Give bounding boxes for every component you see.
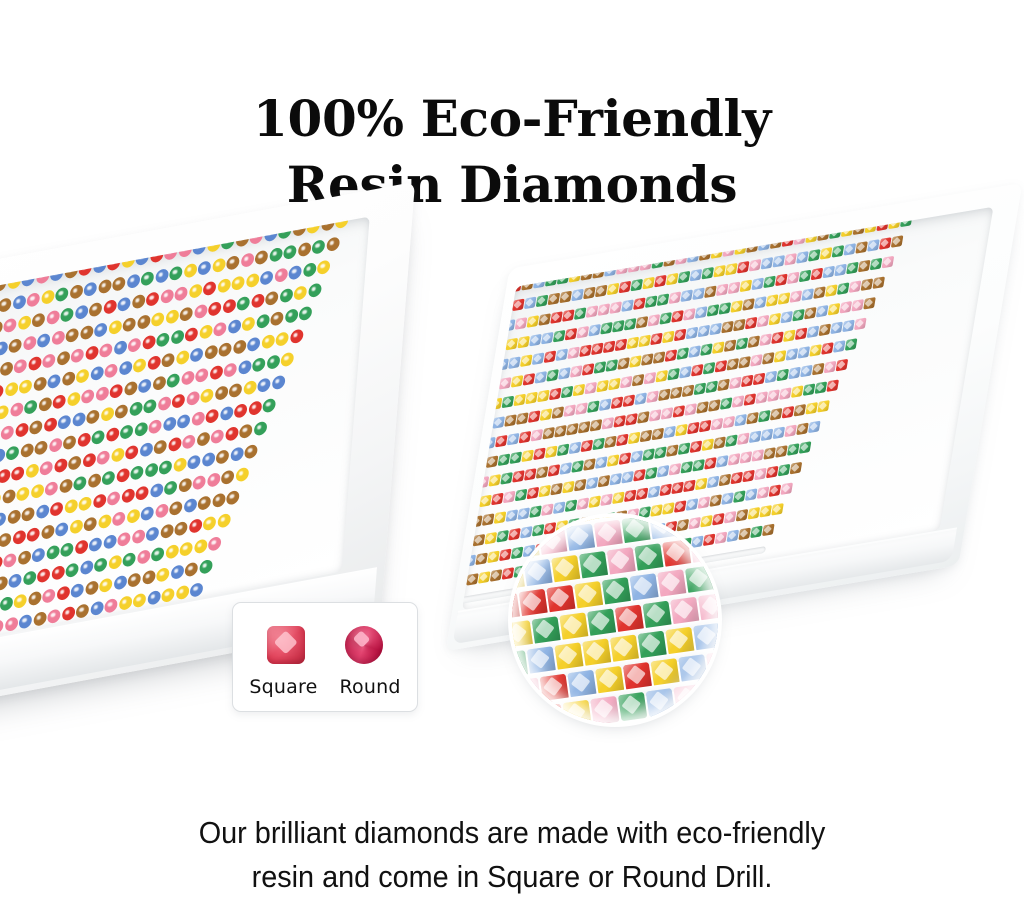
bead <box>683 308 696 321</box>
bead <box>127 573 141 589</box>
bead <box>756 315 769 328</box>
bead <box>0 576 8 592</box>
bead <box>475 381 488 394</box>
bead <box>217 278 231 294</box>
bead <box>720 397 733 410</box>
bead <box>758 410 771 423</box>
bead <box>601 417 614 430</box>
bead <box>11 466 25 482</box>
bead <box>596 379 609 392</box>
bead <box>787 271 800 284</box>
bead <box>798 441 811 454</box>
bead <box>547 464 560 477</box>
bead <box>226 490 240 506</box>
bead <box>143 399 157 415</box>
bead <box>179 307 193 323</box>
bead <box>190 348 204 364</box>
bead <box>641 353 654 366</box>
bead <box>98 514 112 530</box>
bead <box>206 473 220 489</box>
bead <box>9 402 23 418</box>
bead <box>525 391 538 404</box>
bead <box>574 479 587 492</box>
bead <box>805 402 818 415</box>
bead <box>483 265 496 278</box>
bead <box>647 485 660 498</box>
bead <box>785 348 798 361</box>
bead <box>79 325 93 341</box>
bead <box>193 304 207 320</box>
bead <box>499 377 512 390</box>
bead <box>600 493 613 506</box>
bead <box>858 259 871 272</box>
bead <box>495 263 508 276</box>
bead <box>787 443 800 456</box>
bead <box>197 261 211 277</box>
bead <box>810 267 823 280</box>
bead <box>509 451 522 464</box>
bead <box>90 601 104 617</box>
bead <box>613 415 626 428</box>
bead <box>138 379 152 395</box>
bead <box>466 401 479 414</box>
bead <box>546 369 559 382</box>
bead <box>96 450 110 466</box>
bead <box>681 384 694 397</box>
bead <box>88 537 102 553</box>
bead <box>169 501 183 517</box>
bead <box>3 553 17 569</box>
bead <box>122 552 136 568</box>
bead <box>462 440 472 453</box>
bead <box>721 320 734 333</box>
bead <box>42 589 56 605</box>
bead <box>748 430 761 443</box>
bead <box>844 338 857 351</box>
bead <box>289 329 303 345</box>
bead <box>238 360 252 376</box>
bead <box>705 380 718 393</box>
bead <box>94 323 108 339</box>
bead <box>131 529 145 545</box>
bead <box>662 502 675 515</box>
bead <box>508 356 521 369</box>
bead <box>468 420 481 433</box>
bead <box>733 490 746 503</box>
bead <box>802 383 815 396</box>
bead <box>462 498 468 511</box>
bead <box>701 438 714 451</box>
bead <box>612 320 625 333</box>
bead <box>621 299 634 312</box>
bead <box>733 318 746 331</box>
bead <box>584 381 597 394</box>
bead <box>752 372 765 385</box>
bead <box>593 361 606 374</box>
bead <box>575 402 588 415</box>
bead <box>727 281 740 294</box>
bead <box>542 427 555 440</box>
bead <box>659 312 672 325</box>
bead <box>479 323 492 336</box>
bead <box>633 297 646 310</box>
bead <box>793 404 806 417</box>
bead <box>814 381 827 394</box>
bead <box>716 283 729 296</box>
bead <box>675 423 688 436</box>
bead <box>26 292 40 308</box>
bead <box>8 338 22 354</box>
bead <box>549 387 562 400</box>
bead <box>581 363 594 376</box>
bead <box>817 400 830 413</box>
bead <box>111 448 125 464</box>
bead <box>161 353 175 369</box>
bead <box>22 336 36 352</box>
bead <box>514 488 527 501</box>
bead <box>126 274 140 290</box>
bead <box>472 534 485 547</box>
bead <box>245 273 259 289</box>
magnifier-content <box>512 517 718 723</box>
bead <box>271 375 285 391</box>
bead <box>70 348 84 364</box>
bead <box>161 588 175 604</box>
bead <box>28 356 42 372</box>
bead <box>713 265 726 278</box>
bead <box>754 467 767 480</box>
bead <box>37 568 51 584</box>
bead <box>718 302 731 315</box>
bead <box>717 378 730 391</box>
bead <box>43 417 57 433</box>
bead <box>170 330 184 346</box>
bead <box>762 352 775 365</box>
bead <box>251 294 265 310</box>
bead <box>44 481 58 497</box>
bead <box>789 461 802 474</box>
bead <box>231 276 245 292</box>
bead <box>50 502 64 518</box>
round-gem-icon <box>345 626 383 664</box>
bead <box>126 509 140 525</box>
bead <box>848 280 861 293</box>
bead <box>867 239 880 252</box>
bead <box>743 393 756 406</box>
bead <box>585 305 598 318</box>
bead <box>626 336 639 349</box>
bead <box>8 573 22 589</box>
bead <box>812 362 825 375</box>
bead <box>869 257 882 270</box>
bead <box>65 328 79 344</box>
bead <box>56 586 70 602</box>
bead <box>673 328 686 341</box>
bead <box>40 525 54 541</box>
bead <box>42 354 56 370</box>
bead <box>627 431 640 444</box>
bead <box>64 499 78 515</box>
bead <box>748 259 761 272</box>
bead <box>639 429 652 442</box>
bead <box>78 496 92 512</box>
bead <box>567 346 580 359</box>
bead <box>13 594 27 610</box>
bead <box>714 360 727 373</box>
bead <box>751 277 764 290</box>
bead <box>671 481 684 494</box>
bead <box>123 381 137 397</box>
bead <box>521 449 534 462</box>
bead <box>625 413 638 426</box>
bead <box>127 338 141 354</box>
bead <box>31 548 45 564</box>
bead <box>177 414 191 430</box>
bead <box>634 392 647 405</box>
bead <box>134 422 148 438</box>
bead <box>600 322 613 335</box>
bead <box>851 299 864 312</box>
bead <box>2 489 16 505</box>
bead <box>190 583 204 599</box>
bead <box>223 363 237 379</box>
bead <box>735 509 748 522</box>
bead <box>241 317 255 333</box>
bead <box>630 450 643 463</box>
bead <box>837 282 850 295</box>
bead <box>683 479 696 492</box>
bead <box>685 498 698 511</box>
bead <box>697 496 710 509</box>
magnified-bead <box>590 696 619 723</box>
bead <box>175 350 189 366</box>
bead <box>108 320 122 336</box>
bead <box>99 578 113 594</box>
bead <box>677 271 690 284</box>
bead <box>568 441 581 454</box>
bead <box>21 507 35 523</box>
bead <box>591 342 604 355</box>
bead <box>0 469 10 485</box>
bead <box>178 478 192 494</box>
bead <box>195 368 209 384</box>
bead <box>616 433 629 446</box>
bead <box>35 504 49 520</box>
bead <box>696 401 709 414</box>
bead <box>576 497 589 510</box>
bead <box>713 436 726 449</box>
bead <box>609 473 622 486</box>
bead <box>274 268 288 284</box>
bead <box>708 399 721 412</box>
bead <box>550 482 563 495</box>
bead <box>462 422 469 435</box>
bead <box>497 453 510 466</box>
bead <box>772 255 785 268</box>
bead <box>697 324 710 337</box>
bead <box>481 341 494 354</box>
bead <box>649 409 662 422</box>
bead <box>808 420 821 433</box>
bead <box>0 341 8 357</box>
bead <box>662 330 675 343</box>
bead <box>763 275 776 288</box>
bead <box>658 388 671 401</box>
bead <box>742 469 755 482</box>
bead <box>113 340 127 356</box>
bead <box>804 307 817 320</box>
bead <box>288 265 302 281</box>
bead <box>105 427 119 443</box>
bead <box>499 548 512 561</box>
bead <box>760 428 773 441</box>
bead <box>61 371 75 387</box>
bead <box>759 505 772 518</box>
bead <box>656 465 669 478</box>
bead <box>0 405 9 421</box>
bead <box>730 471 743 484</box>
bead <box>754 296 767 309</box>
bead <box>689 269 702 282</box>
bead <box>17 550 31 566</box>
bead <box>4 617 18 633</box>
bead <box>94 558 108 574</box>
bead <box>214 386 228 402</box>
bead <box>326 237 340 253</box>
bead <box>479 494 492 507</box>
bead <box>890 235 903 248</box>
bead <box>212 258 226 274</box>
bead <box>121 488 135 504</box>
bead <box>51 331 65 347</box>
bead <box>462 288 474 301</box>
bead <box>20 443 34 459</box>
bead <box>727 453 740 466</box>
bead <box>602 340 615 353</box>
bead <box>39 461 53 477</box>
bead <box>122 317 136 333</box>
bead <box>484 532 497 545</box>
bead <box>225 427 239 443</box>
bead <box>538 484 551 497</box>
bead <box>38 397 52 413</box>
bead <box>564 328 577 341</box>
bead <box>738 356 751 369</box>
bead <box>756 486 769 499</box>
bead <box>7 510 21 526</box>
bead <box>792 309 805 322</box>
bead <box>692 459 705 472</box>
bead <box>37 333 51 349</box>
bead <box>232 340 246 356</box>
bead <box>570 365 583 378</box>
bead <box>504 414 517 427</box>
bead <box>187 455 201 471</box>
bead <box>704 285 717 298</box>
bead <box>103 535 117 551</box>
bead <box>755 391 768 404</box>
bead <box>77 433 91 449</box>
bead <box>830 321 843 334</box>
bead <box>467 325 480 338</box>
page-title: 100% Eco-Friendly Resin Diamonds <box>0 86 1024 218</box>
bead <box>158 460 172 476</box>
bead <box>175 585 189 601</box>
bead <box>0 448 5 464</box>
bead <box>183 498 197 514</box>
bead <box>583 458 596 471</box>
bead <box>718 473 731 486</box>
bead <box>767 389 780 402</box>
bead <box>650 504 663 517</box>
bead <box>256 314 270 330</box>
bead <box>809 344 822 357</box>
bead <box>735 337 748 350</box>
bead <box>664 349 677 362</box>
bead <box>842 319 855 332</box>
bead <box>33 612 47 628</box>
bead <box>638 334 651 347</box>
bead <box>311 240 325 256</box>
bead <box>620 376 633 389</box>
bead <box>655 370 668 383</box>
bead <box>462 345 470 358</box>
bead <box>117 297 131 313</box>
bead <box>726 529 739 542</box>
bead <box>18 614 32 630</box>
bead <box>823 360 836 373</box>
bead <box>174 521 188 537</box>
bead <box>716 455 729 468</box>
bead <box>677 442 690 455</box>
bead <box>534 371 547 384</box>
bead <box>651 427 664 440</box>
bead <box>721 492 734 505</box>
bead <box>551 406 564 419</box>
bead <box>218 342 232 358</box>
bead <box>500 472 513 485</box>
bead <box>750 354 763 367</box>
bead <box>507 433 520 446</box>
bead <box>495 435 508 448</box>
bead <box>155 269 169 285</box>
bead <box>59 479 73 495</box>
bead <box>100 407 114 423</box>
bead <box>210 429 224 445</box>
bead <box>230 447 244 463</box>
bead <box>555 348 568 361</box>
bead <box>297 242 311 258</box>
bead <box>470 343 483 356</box>
bead <box>775 273 788 286</box>
bead <box>236 296 250 312</box>
bead <box>747 507 760 520</box>
bead <box>472 362 485 375</box>
bead <box>750 525 763 538</box>
bead <box>605 359 618 372</box>
bead <box>4 382 18 398</box>
bead <box>839 301 852 314</box>
bead <box>25 464 39 480</box>
bead <box>547 292 560 305</box>
bead <box>188 519 202 535</box>
bead <box>609 301 622 314</box>
bead <box>41 290 55 306</box>
bead <box>146 292 160 308</box>
bead <box>688 345 701 358</box>
bead <box>68 456 82 472</box>
bead <box>104 598 118 614</box>
